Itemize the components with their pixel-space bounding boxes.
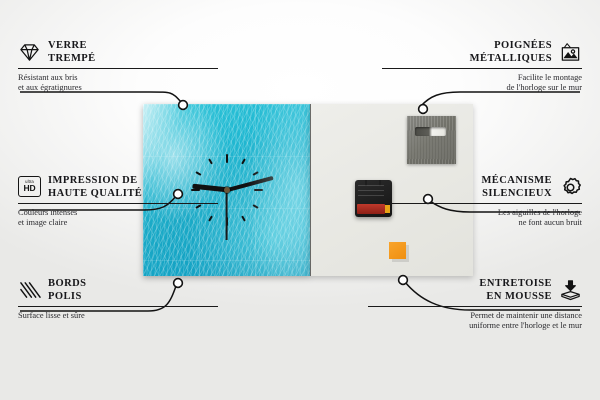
callout-divider [18,203,218,204]
callout-mecanisme-silencieux[interactable]: MÉCANISME SILENCIEUX Les aiguilles de l'… [382,175,582,229]
callout-title: POIGNÉES MÉTALLIQUES [470,40,552,65]
callout-entretoise-en-mousse[interactable]: ENTRETOISE EN MOUSSE Permet de maintenir… [368,278,582,332]
callout-description: Surface lisse et sûre [18,311,218,321]
clock-minute-hand [226,176,273,192]
callout-impression-haute-qualite[interactable]: ultra HD IMPRESSION DE HAUTE QUALITÉ Cou… [18,175,218,229]
callout-description: Résistant aux bris et aux égratignures [18,73,218,94]
callout-divider [382,203,582,204]
picture-hanger-icon [559,41,582,64]
callout-title: ENTRETOISE EN MOUSSE [479,278,552,303]
callout-description: Permet de maintenir une distance uniform… [368,311,582,332]
callout-header: MÉCANISME SILENCIEUX [382,175,582,200]
callout-header: VERRE TREMPÉ [18,40,218,65]
infographic-canvas: VERRE TREMPÉ Résistant aux bris et aux é… [0,0,600,400]
callout-title: VERRE TREMPÉ [48,40,96,65]
callout-title: IMPRESSION DE HAUTE QUALITÉ [48,175,142,200]
clock-center-pin [224,187,230,193]
callout-poignees-metalliques[interactable]: POIGNÉES MÉTALLIQUES Facilite le montage… [382,40,582,94]
movement-label-lines [358,185,384,201]
foam-spacer-pad [389,242,406,259]
callout-divider [368,306,582,307]
aa-battery [357,204,385,214]
callout-divider [18,68,218,69]
diamond-icon [18,41,41,64]
polished-edges-icon [18,279,41,302]
callout-description: Couleurs intenses et image claire [18,208,218,229]
callout-header: ENTRETOISE EN MOUSSE [368,278,582,303]
callout-verre-trempe[interactable]: VERRE TREMPÉ Résistant aux bris et aux é… [18,40,218,94]
callout-header: BORDS POLIS [18,278,218,303]
hanger-keyhole-slot [415,127,445,136]
foam-spacer-icon [559,279,582,302]
clock-tick [226,154,228,226]
metal-hanger-plate [407,116,456,164]
clock-tick [226,154,228,226]
callout-title: BORDS POLIS [48,278,86,303]
callout-description: Les aiguilles de l'horloge ne font aucun… [382,208,582,229]
callout-description: Facilite le montage de l'horloge sur le … [382,73,582,94]
callout-divider [18,306,218,307]
callout-title: MÉCANISME SILENCIEUX [481,175,552,200]
ultra-hd-icon: ultra HD [18,176,41,199]
callout-divider [382,68,582,69]
clock-second-hand [226,190,228,240]
gear-icon [559,176,582,199]
callout-header: POIGNÉES MÉTALLIQUES [382,40,582,65]
callout-header: ultra HD IMPRESSION DE HAUTE QUALITÉ [18,175,218,200]
callout-bords-polis[interactable]: BORDS POLIS Surface lisse et sûre [18,278,218,321]
